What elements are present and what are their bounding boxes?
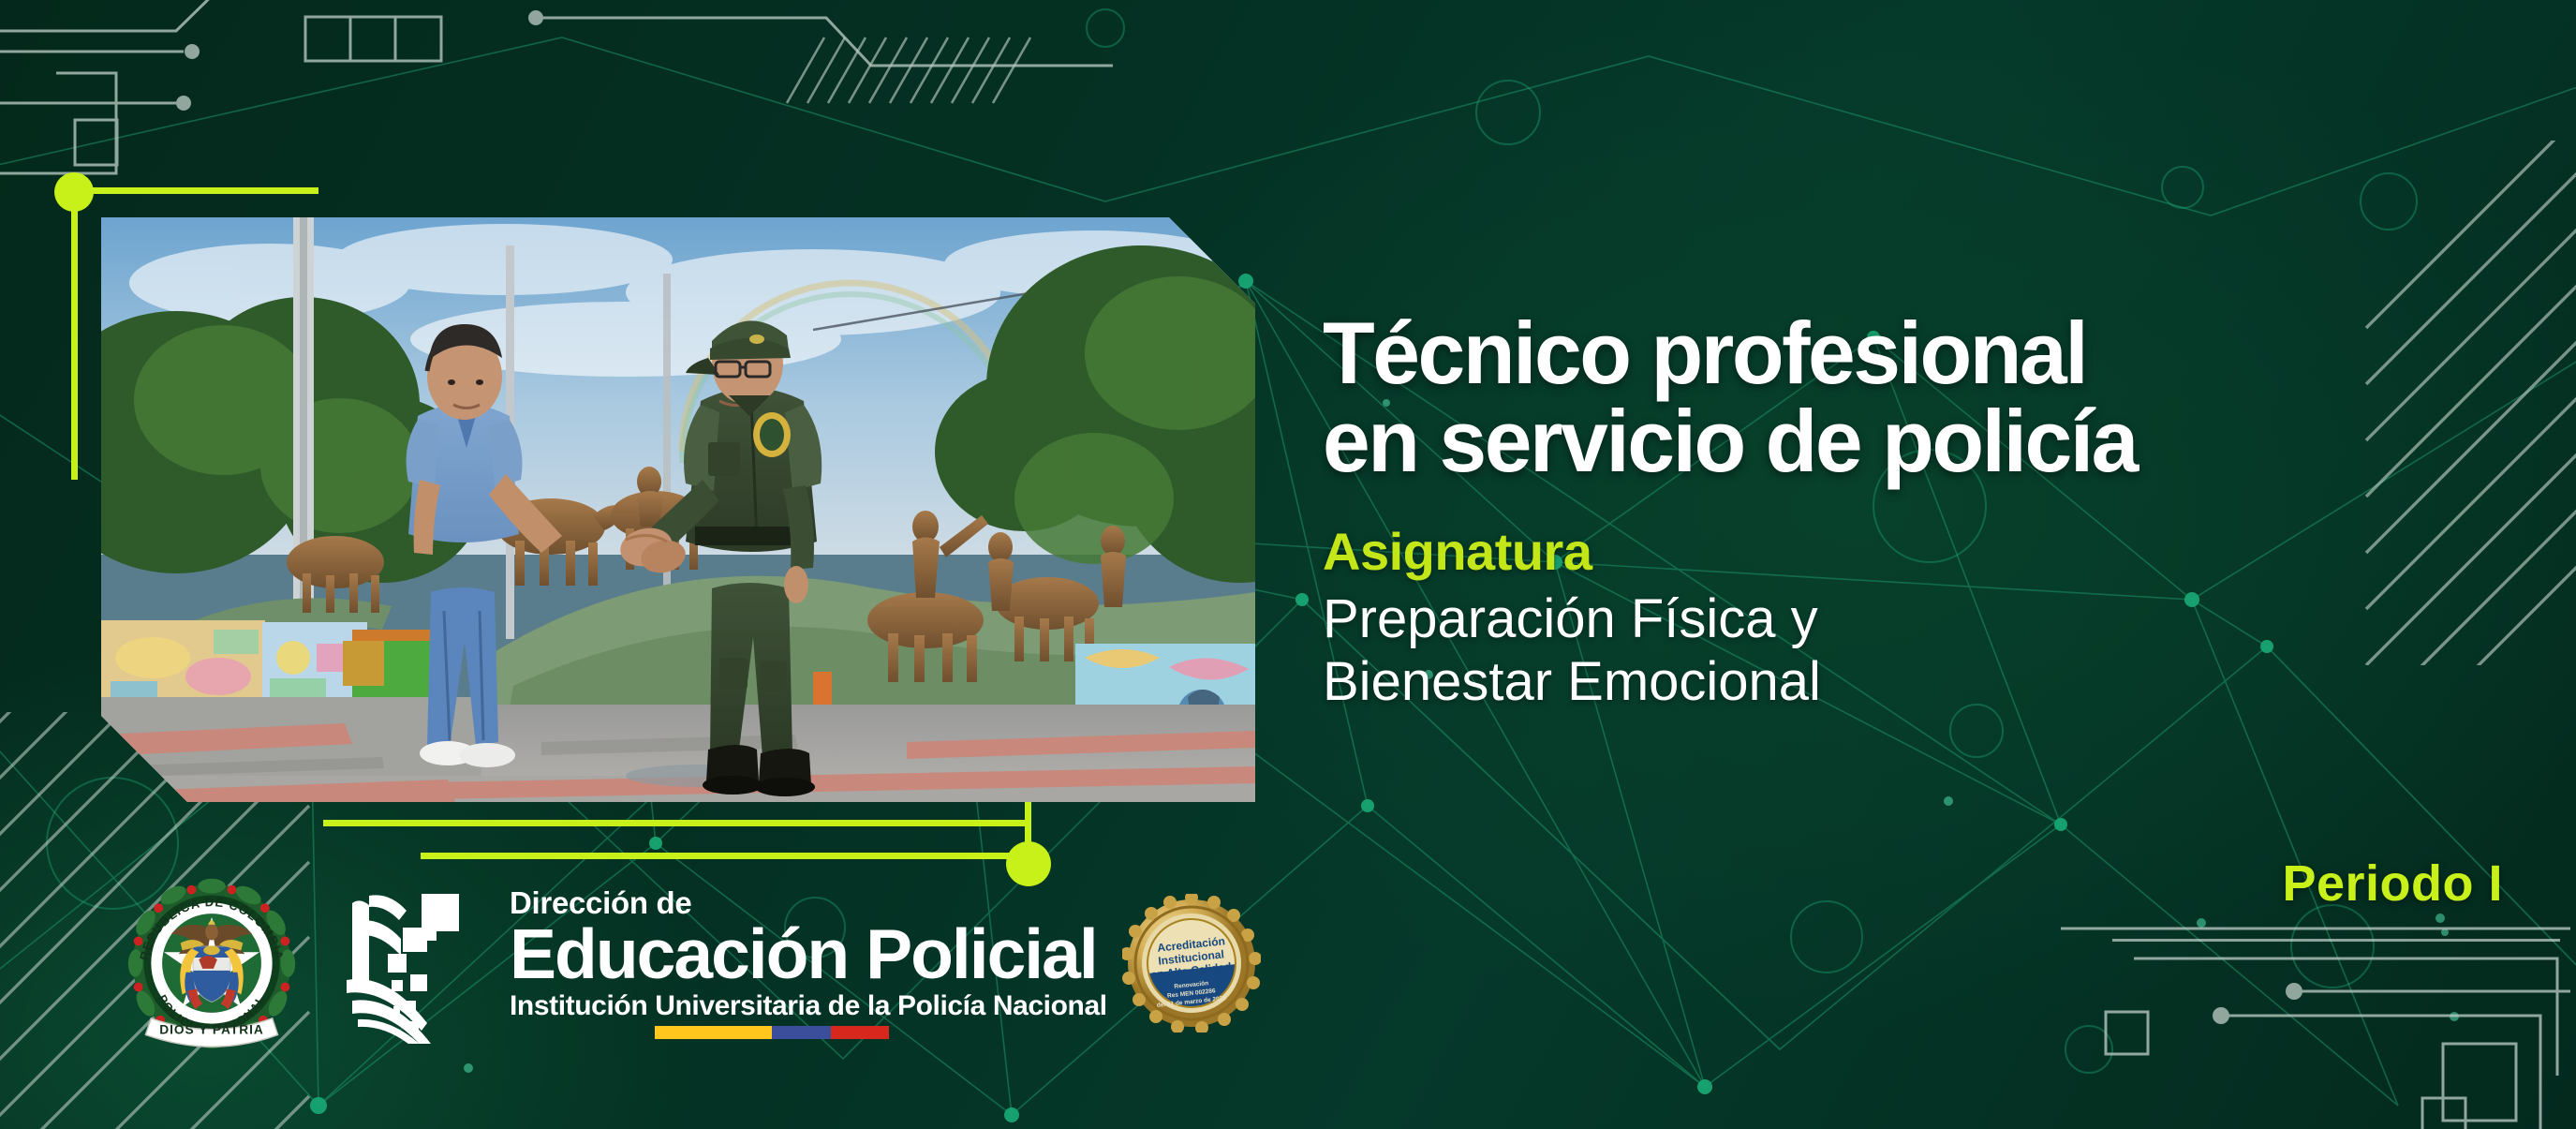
subject-name: Preparación Física y Bienestar Emocional bbox=[1323, 587, 2475, 714]
page-title: Técnico profesional en servicio de polic… bbox=[1323, 309, 2440, 485]
institution-line2: Educación Policial bbox=[510, 920, 1107, 989]
period-badge: Periodo I bbox=[2282, 854, 2503, 913]
accent-line-bottom-upper bbox=[323, 820, 1030, 826]
accent-line-top-horizontal bbox=[73, 187, 318, 194]
institution-line3: Institución Universitaria de la Policía … bbox=[510, 992, 1107, 1020]
flag-stripe-red bbox=[831, 1026, 890, 1039]
subject-label: Asignatura bbox=[1323, 525, 2475, 580]
accent-line-bottom-lower bbox=[421, 853, 1028, 859]
course-banner: Técnico profesional en servicio de polic… bbox=[0, 0, 2576, 1129]
hatch-ribbon-top-decoration bbox=[777, 13, 1096, 116]
course-text-column: Técnico profesional en servicio de polic… bbox=[1323, 309, 2475, 713]
colombia-flag-bar bbox=[655, 1026, 889, 1039]
svg-text:DIOS Y PATRIA: DIOS Y PATRIA bbox=[159, 1022, 264, 1036]
accent-dot-top-left bbox=[54, 172, 94, 212]
accreditation-seal-icon: Acreditación Institucional en Alta Calid… bbox=[1122, 894, 1261, 1032]
period-underline bbox=[2112, 939, 2560, 942]
flag-stripe-yellow bbox=[655, 1026, 772, 1039]
footer-logos: REPUBLICA DE COLOMBIA POLICIA NACIONAL bbox=[120, 871, 1261, 1055]
open-book-pixels-icon bbox=[324, 883, 485, 1044]
colombia-national-police-coat-of-arms-icon: REPUBLICA DE COLOMBIA POLICIA NACIONAL bbox=[120, 871, 303, 1055]
direccion-educacion-policial-logo: Dirección de Educación Policial Instituc… bbox=[324, 883, 1107, 1044]
institution-line1: Dirección de bbox=[510, 887, 1107, 918]
handshake-photo bbox=[101, 217, 1255, 802]
accent-line-left-vertical bbox=[71, 187, 78, 480]
institution-wordmark: Dirección de Educación Policial Instituc… bbox=[510, 887, 1107, 1040]
flag-stripe-blue bbox=[772, 1026, 831, 1039]
